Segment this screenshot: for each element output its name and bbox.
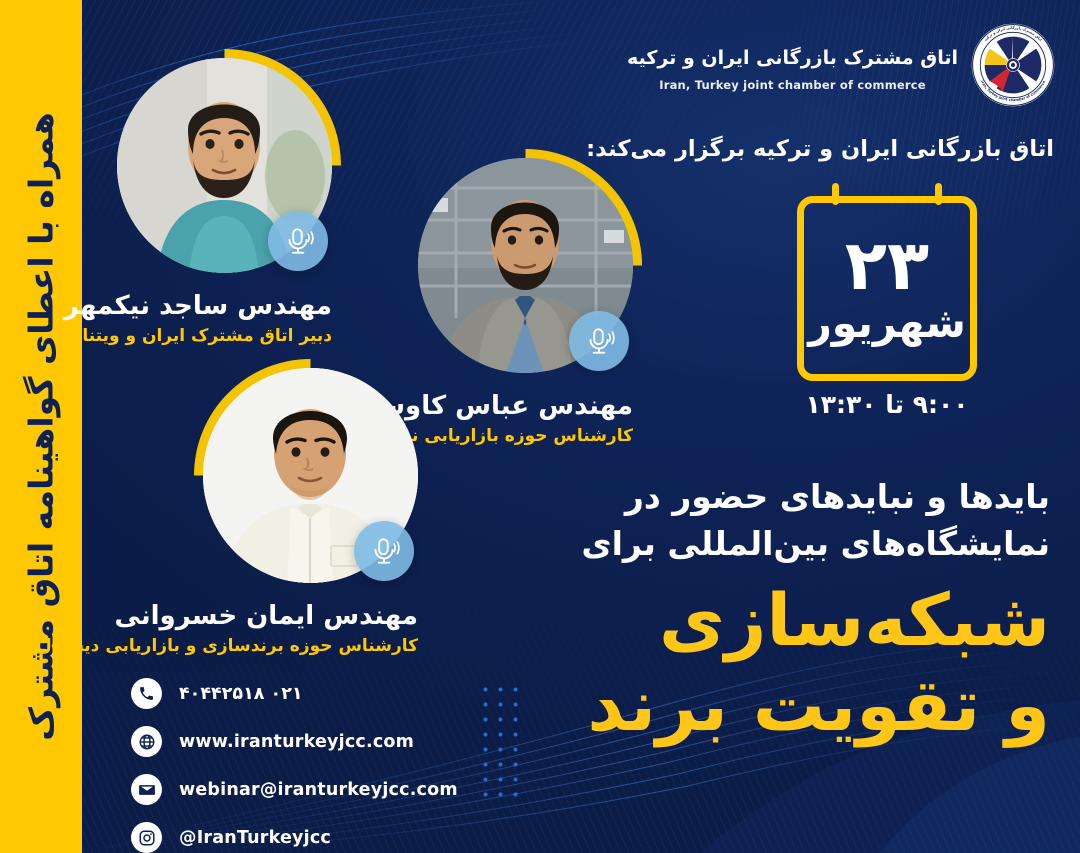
logo-title-fa: اتاق مشترک بازرگانی ایران و ترکیه [627, 44, 958, 73]
speaker-name-2: مهندس عباس کاوسی [418, 391, 633, 421]
calendar-ring-left [832, 183, 839, 205]
event-date-calendar: ۲۳ شهریور ۹:۰۰ تا ۱۳:۳۰ [797, 196, 977, 419]
headline-emphasis-line-2: و تقویت برند [450, 667, 1050, 745]
contact-list: ۰۲۱ ۴۰۴۴۲۵۱۸ www.iranturkeyjcc.com w [131, 678, 458, 853]
contact-value-phone: ۰۲۱ ۴۰۴۴۲۵۱۸ [179, 684, 303, 704]
headline-line-2: نمایشگاه‌های بین‌المللی برای [450, 521, 1050, 568]
speaker-card-1: مهندس ساجد نیکمهر دبیر اتاق مشترک ایران … [117, 58, 332, 346]
contact-row-email[interactable]: webinar@iranturkeyjcc.com [131, 774, 458, 805]
logo-title-en: Iran, Turkey joint chamber of commerce [627, 78, 958, 92]
speaker-photo-wrap-3 [203, 368, 418, 583]
contact-value-email: webinar@iranturkeyjcc.com [179, 780, 458, 800]
calendar-ring-right [935, 183, 942, 205]
chamber-logo: اتاق مشترک بازرگانی ایران و ترکیه Iran, … [627, 22, 1056, 108]
microphone-icon-2 [569, 311, 629, 371]
microphone-icon-3 [354, 521, 414, 581]
logo-text-block: اتاق مشترک بازرگانی ایران و ترکیه Iran, … [627, 38, 958, 92]
speaker-photo-wrap-2 [418, 158, 633, 373]
speaker-role-2: کارشناس حوزه بازاریابی نمایشگاهی [418, 426, 633, 446]
speaker-role-3: کارشناس حوزه برندسازی و بازاریابی دیجیتا… [203, 636, 418, 656]
contact-row-website[interactable]: www.iranturkeyjcc.com [131, 726, 458, 757]
poster-canvas: همراه با اعطای گواهینامه اتاق مشترک [0, 0, 1080, 853]
calendar-box: ۲۳ شهریور [797, 196, 977, 381]
contact-value-website: www.iranturkeyjcc.com [179, 732, 414, 752]
headline-line-1: بایدها و نبایدهای حضور در [450, 474, 1050, 521]
headline-emphasis-line-1: شبکه‌سازی [659, 578, 1050, 662]
phone-icon [131, 678, 162, 709]
speaker-name-1: مهندس ساجد نیکمهر [117, 291, 332, 321]
pinwheel-emblem-icon: اتاق مشترک بازرگانی ایران و ترکیه Iran, … [970, 22, 1056, 108]
event-time: ۹:۰۰ تا ۱۳:۳۰ [797, 390, 977, 419]
speaker-card-3: مهندس ایمان خسروانی کارشناس حوزه برندساز… [203, 368, 418, 656]
calendar-day: ۲۳ [845, 233, 929, 299]
headline-emphasis: شبکه‌سازی و تقویت برند [450, 582, 1050, 746]
speaker-photo-wrap-1 [117, 58, 332, 273]
envelope-icon [131, 774, 162, 805]
instagram-icon [131, 822, 162, 853]
microphone-icon-1 [268, 211, 328, 271]
speaker-role-1: دبیر اتاق مشترک ایران و ویتنام [117, 326, 332, 346]
calendar-rings [804, 183, 970, 205]
announce-line: اتاق بازرگانی ایران و ترکیه برگزار می‌کن… [586, 136, 1054, 162]
contact-row-instagram[interactable]: @IranTurkeyjcc [131, 822, 458, 853]
speaker-card-2: مهندس عباس کاوسی کارشناس حوزه بازاریابی … [418, 158, 633, 446]
contact-row-phone[interactable]: ۰۲۱ ۴۰۴۴۲۵۱۸ [131, 678, 458, 709]
calendar-month: شهریور [808, 303, 966, 344]
globe-icon [131, 726, 162, 757]
headline-block: بایدها و نبایدهای حضور در نمایشگاه‌های ب… [450, 474, 1050, 745]
contact-value-instagram: @IranTurkeyjcc [179, 828, 331, 848]
speaker-name-3: مهندس ایمان خسروانی [203, 601, 418, 631]
side-band: همراه با اعطای گواهینامه اتاق مشترک [0, 0, 82, 853]
